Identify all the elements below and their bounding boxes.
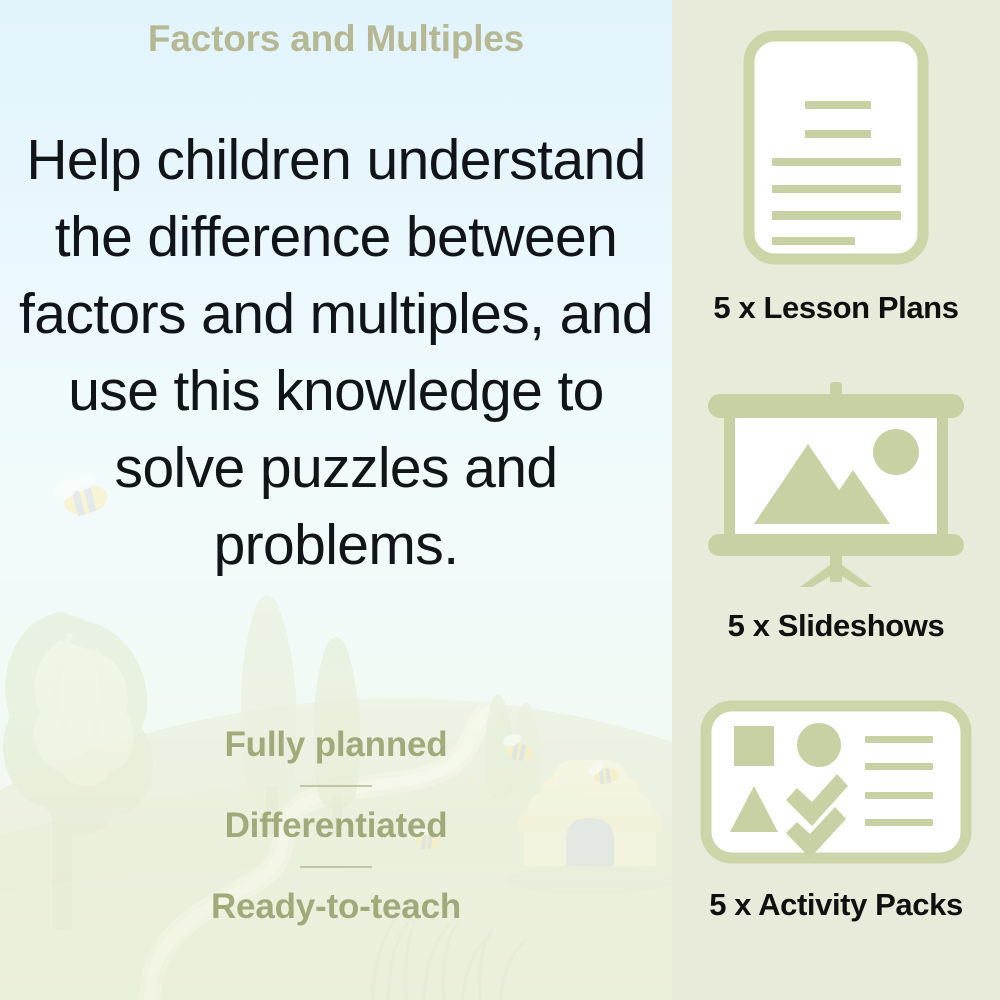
- resource-label-slideshows: 5 x Slideshows: [728, 608, 945, 644]
- feature-divider: [300, 866, 372, 868]
- feature-item-differentiated: Differentiated: [0, 799, 672, 853]
- body-copy: Help children understand the difference …: [14, 122, 658, 584]
- promo-graphic: Factors and Multiples Help children unde…: [0, 0, 1000, 1000]
- page-title: Factors and Multiples: [0, 18, 672, 60]
- right-panel-resources: 5 x Lesson Plans: [672, 0, 1000, 1000]
- document-icon: [743, 30, 929, 270]
- feature-divider: [300, 785, 372, 787]
- feature-item-fully-planned: Fully planned: [0, 718, 672, 772]
- resource-label-activity-packs: 5 x Activity Packs: [709, 887, 963, 923]
- activity-card-icon: [700, 700, 972, 869]
- left-panel: Factors and Multiples Help children unde…: [0, 0, 672, 1000]
- resource-label-lesson-plans: 5 x Lesson Plans: [713, 290, 958, 326]
- feature-list: Fully planned Differentiated Ready-to-te…: [0, 718, 672, 934]
- feature-item-ready-to-teach: Ready-to-teach: [0, 880, 672, 934]
- resource-card-activity-packs: 5 x Activity Packs: [672, 700, 1000, 923]
- projector-screen-icon: [700, 382, 972, 592]
- resource-card-slideshows: 5 x Slideshows: [672, 382, 1000, 644]
- resource-card-lesson-plans: 5 x Lesson Plans: [672, 30, 1000, 326]
